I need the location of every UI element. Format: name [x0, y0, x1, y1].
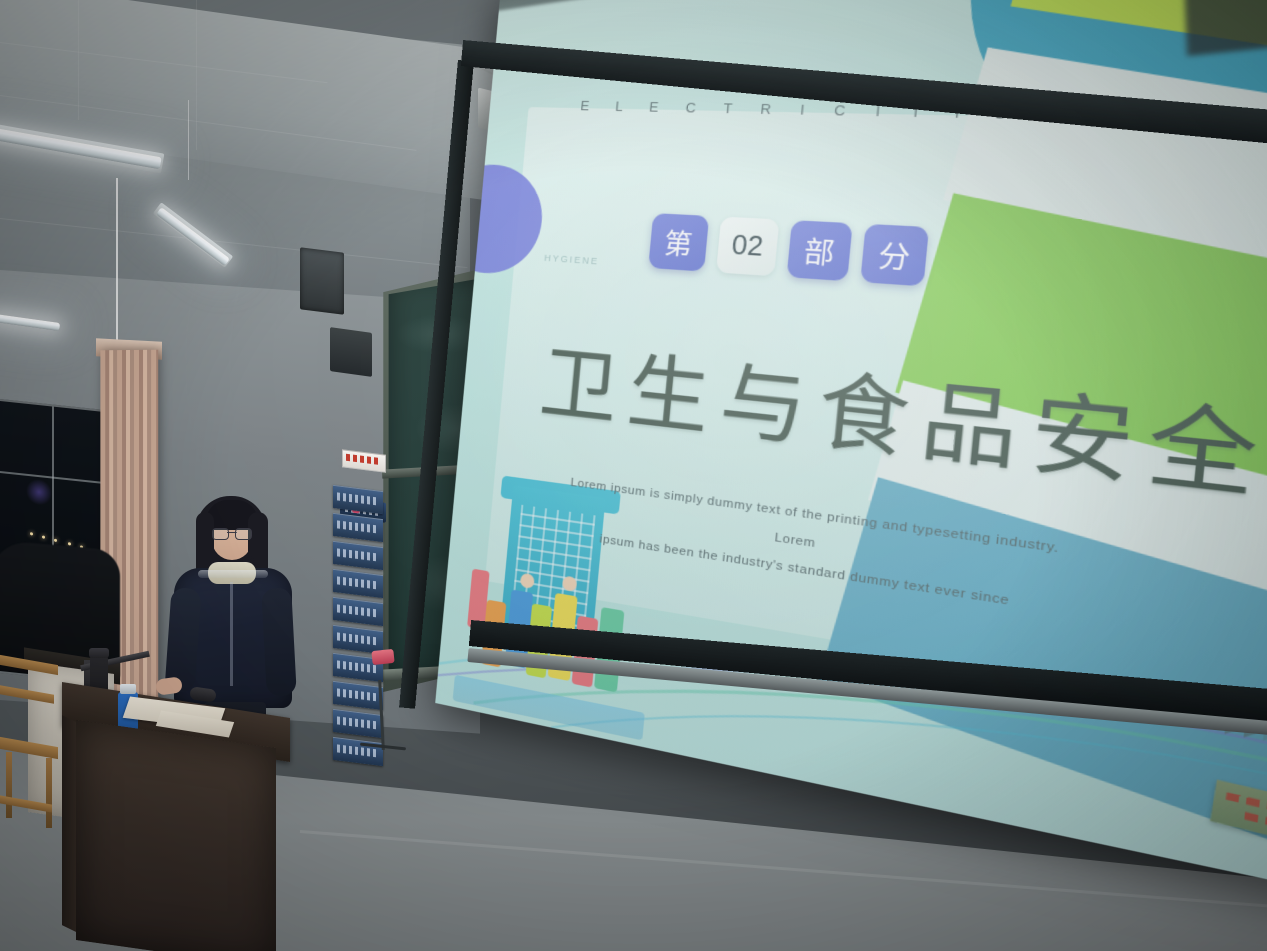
wall-seam	[196, 0, 197, 150]
thermos-cap	[89, 648, 109, 658]
lectern-front-panel	[76, 720, 276, 951]
wall-placard	[333, 513, 383, 542]
night-light-dot	[54, 539, 57, 542]
wooden-lectern	[62, 700, 290, 951]
chapter-number-tile: 02	[716, 217, 779, 277]
jacket-collar-trim	[198, 570, 268, 578]
window-glow	[26, 478, 52, 507]
wall-placard	[333, 709, 383, 738]
computer-mouse[interactable]	[189, 686, 217, 702]
chapter-prefix-tile: 第	[648, 213, 709, 271]
light-cord	[188, 100, 189, 180]
wall-placard	[333, 737, 383, 766]
red-cloth	[371, 649, 394, 665]
wall-seam	[78, 0, 79, 120]
right-arm	[261, 587, 297, 696]
wall-placard	[333, 597, 383, 626]
chapter-section-tile: 分	[860, 224, 929, 286]
bottle-cap	[120, 684, 136, 694]
wall-placard	[333, 485, 383, 514]
classroom-photo: E L E C T R I C I T Y S A F E T Y HYGIEN…	[0, 0, 1267, 951]
wall-placard	[333, 541, 383, 570]
chair-leg	[46, 758, 52, 828]
wall-placard	[333, 681, 383, 710]
jacket-zipper	[230, 582, 233, 686]
wall-speaker	[300, 247, 344, 314]
chair-leg	[6, 752, 12, 818]
eyeglasses	[212, 528, 252, 538]
student-presenter	[168, 496, 300, 726]
wall-placard-stack	[333, 470, 387, 770]
wall-speaker	[330, 327, 372, 377]
night-light-dot	[68, 542, 71, 545]
night-light-dot	[30, 532, 33, 535]
frame-cast-shadow	[1181, 0, 1267, 56]
night-light-dot	[42, 535, 45, 538]
chapter-part-tile: 部	[787, 220, 853, 281]
wall-placard	[333, 569, 383, 598]
